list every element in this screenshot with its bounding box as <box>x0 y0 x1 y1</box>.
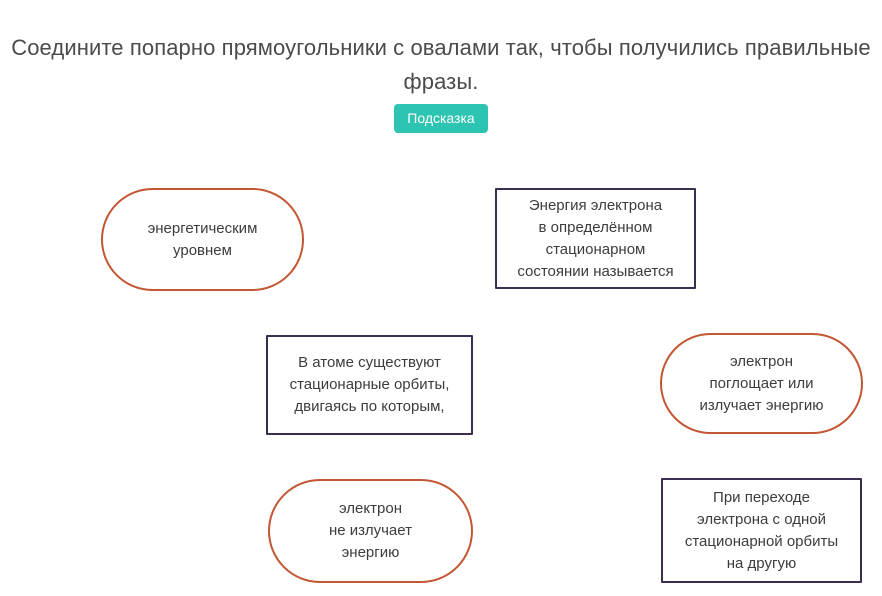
card-rect-stationary-orbits[interactable]: В атоме существуют стационарные орбиты, … <box>266 335 473 435</box>
matching-board: энергетическим уровнем Энергия электрона… <box>0 0 882 596</box>
card-oval-energy-level[interactable]: энергетическим уровнем <box>101 188 304 291</box>
card-rect-stationary-orbits-text: В атоме существуют стационарные орбиты, … <box>284 352 456 418</box>
card-oval-energy-level-text: энергетическим уровнем <box>142 218 264 262</box>
card-rect-energy-state-text: Энергия электрона в определённом стацион… <box>511 195 679 283</box>
card-oval-absorb-emit-text: электрон поглощает или излучает энергию <box>693 351 829 417</box>
card-rect-energy-state[interactable]: Энергия электрона в определённом стацион… <box>495 188 696 289</box>
card-rect-electron-transition[interactable]: При переходе электрона с одной стационар… <box>661 478 862 583</box>
card-oval-absorb-emit[interactable]: электрон поглощает или излучает энергию <box>660 333 863 434</box>
card-rect-electron-transition-text: При переходе электрона с одной стационар… <box>679 487 844 575</box>
card-oval-no-emission[interactable]: электрон не излучает энергию <box>268 479 473 583</box>
card-oval-no-emission-text: электрон не излучает энергию <box>323 498 418 564</box>
